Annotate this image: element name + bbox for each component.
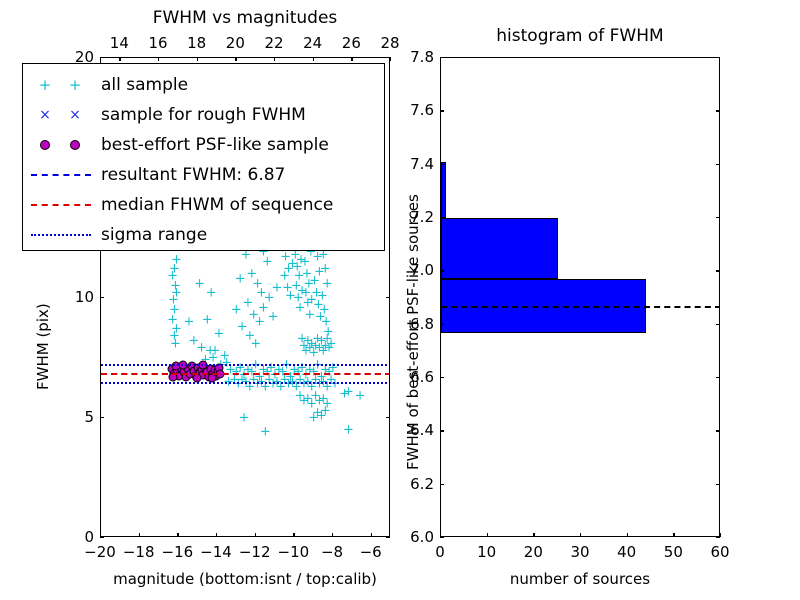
all-sample-point: + bbox=[246, 366, 257, 379]
all-sample-point: + bbox=[200, 354, 211, 367]
plus-icon: + bbox=[39, 76, 52, 94]
all-sample-point: + bbox=[283, 263, 294, 276]
x-tick-top bbox=[313, 57, 314, 61]
psf-sample-point bbox=[211, 366, 220, 375]
right-xaxis-label: number of sources bbox=[440, 570, 720, 588]
all-sample-point: + bbox=[250, 337, 261, 350]
all-sample-point: + bbox=[270, 368, 281, 381]
legend-item: sigma range bbox=[23, 220, 384, 250]
all-sample-point: + bbox=[279, 373, 290, 386]
all-sample-point: + bbox=[264, 373, 275, 386]
all-sample-point: + bbox=[235, 272, 246, 285]
psf-sample-point bbox=[215, 369, 224, 378]
all-sample-point: + bbox=[252, 378, 263, 391]
all-sample-point: + bbox=[310, 373, 321, 386]
y-tick-left bbox=[440, 110, 444, 111]
cross-icon: × bbox=[69, 107, 81, 123]
legend-item: ××sample for rough FWHM bbox=[23, 100, 384, 130]
all-sample-point: + bbox=[252, 277, 263, 290]
rough-sample-point: × bbox=[180, 365, 189, 376]
psf-sample-point bbox=[185, 369, 194, 378]
legend-item-label: median FHWM of sequence bbox=[101, 195, 333, 215]
all-sample-point: + bbox=[205, 344, 216, 357]
x-tick-bottom bbox=[580, 533, 581, 537]
y-tick-left bbox=[100, 537, 104, 538]
y-tick-left bbox=[440, 377, 444, 378]
all-sample-point: + bbox=[241, 376, 252, 389]
psf-sample-point bbox=[214, 363, 223, 372]
all-sample-point: + bbox=[309, 275, 320, 288]
all-sample-point: + bbox=[246, 268, 257, 281]
y-tick-left bbox=[440, 537, 444, 538]
psf-sample-point bbox=[205, 373, 214, 382]
all-sample-point: + bbox=[287, 258, 298, 271]
psf-sample-point bbox=[167, 364, 176, 373]
x-tick-top bbox=[197, 57, 198, 61]
all-sample-point: + bbox=[273, 364, 284, 377]
all-sample-point: + bbox=[317, 289, 328, 302]
all-sample-point: + bbox=[279, 270, 290, 283]
left-yaxis-label: FWHM (pix) bbox=[34, 303, 52, 390]
rough-sample-point: × bbox=[214, 366, 223, 377]
psf-sample-point bbox=[170, 369, 179, 378]
psf-sample-point bbox=[195, 368, 204, 377]
all-sample-point: + bbox=[285, 289, 296, 302]
all-sample-point: + bbox=[202, 313, 213, 326]
all-sample-point: + bbox=[296, 253, 307, 266]
all-sample-point: + bbox=[302, 296, 313, 309]
all-sample-point: + bbox=[275, 380, 286, 393]
rough-sample-point: × bbox=[207, 365, 216, 376]
y-ticklabel: 10 bbox=[54, 288, 94, 306]
all-sample-point: + bbox=[248, 373, 259, 386]
all-sample-point: + bbox=[231, 366, 242, 379]
y-tick-right bbox=[716, 430, 720, 431]
all-sample-point: + bbox=[318, 376, 329, 389]
all-sample-point: + bbox=[322, 397, 333, 410]
x-ticklabel: 60 bbox=[710, 543, 729, 561]
legend-key: ×× bbox=[23, 100, 101, 130]
all-sample-point: + bbox=[312, 332, 323, 345]
all-sample-point: + bbox=[306, 380, 317, 393]
psf-sample-point bbox=[175, 372, 184, 381]
x-ticklabel: 30 bbox=[570, 543, 589, 561]
all-sample-point: + bbox=[225, 364, 236, 377]
x-ticklabel-top: 14 bbox=[110, 34, 129, 52]
legend-item-label: sigma range bbox=[101, 225, 207, 245]
y-ticklabel: 5 bbox=[54, 408, 94, 426]
all-sample-point: + bbox=[171, 323, 182, 336]
all-sample-point: + bbox=[320, 364, 331, 377]
all-sample-point: + bbox=[329, 378, 340, 391]
all-sample-point: + bbox=[283, 378, 294, 391]
right-yaxis-label: FWHM of best-effort PSF-like sources bbox=[404, 194, 422, 470]
all-sample-point: + bbox=[168, 294, 179, 307]
all-sample-point: + bbox=[237, 320, 248, 333]
all-sample-point: + bbox=[312, 359, 323, 372]
x-tick-bottom bbox=[371, 533, 372, 537]
all-sample-point: + bbox=[316, 371, 327, 384]
legend-item-label: best-effort PSF-like sample bbox=[101, 135, 329, 155]
y-ticklabel: 6.0 bbox=[388, 528, 434, 546]
psf-sample-point bbox=[191, 372, 200, 381]
all-sample-point: + bbox=[244, 380, 255, 393]
all-sample-point: + bbox=[295, 390, 306, 403]
y-tick-right bbox=[716, 537, 720, 538]
all-sample-point: + bbox=[242, 296, 253, 309]
all-sample-point: + bbox=[326, 373, 337, 386]
dashed-line-icon bbox=[31, 174, 91, 176]
all-sample-point: + bbox=[254, 316, 265, 329]
all-sample-point: + bbox=[170, 337, 181, 350]
all-sample-point: + bbox=[311, 287, 322, 300]
legend-item: resultant FWHM: 6.87 bbox=[23, 160, 384, 190]
x-ticklabel-top: 24 bbox=[303, 34, 322, 52]
all-sample-point: + bbox=[289, 364, 300, 377]
legend-item-label: resultant FWHM: 6.87 bbox=[101, 165, 285, 185]
all-sample-point: + bbox=[322, 277, 333, 290]
y-tick-right bbox=[716, 217, 720, 218]
all-sample-point: + bbox=[321, 316, 332, 329]
all-sample-point: + bbox=[314, 395, 325, 408]
left-xaxis-label: magnitude (bottom:isnt / top:calib) bbox=[100, 570, 390, 588]
y-ticklabel: 7.6 bbox=[388, 101, 434, 119]
all-sample-point: + bbox=[324, 342, 335, 355]
all-sample-point: + bbox=[196, 342, 207, 355]
legend-item-label: sample for rough FWHM bbox=[101, 105, 306, 125]
psf-sample-point bbox=[172, 362, 181, 371]
legend-item-label: all sample bbox=[101, 75, 188, 95]
psf-sample-point bbox=[189, 367, 198, 376]
all-sample-point: + bbox=[355, 390, 366, 403]
all-sample-point: + bbox=[248, 308, 259, 321]
x-ticklabel-bottom: −14 bbox=[200, 543, 232, 561]
legend-box: ++all sample××sample for rough FWHMbest-… bbox=[22, 63, 385, 251]
all-sample-point: + bbox=[318, 344, 329, 357]
all-sample-point: + bbox=[312, 251, 323, 264]
all-sample-point: + bbox=[304, 308, 315, 321]
y-tick-left bbox=[440, 430, 444, 431]
histogram-bar bbox=[441, 218, 558, 279]
x-ticklabel: 20 bbox=[524, 543, 543, 561]
x-ticklabel-bottom: −12 bbox=[239, 543, 271, 561]
all-sample-point: + bbox=[256, 287, 267, 300]
all-sample-point: + bbox=[231, 304, 242, 317]
x-tick-bottom bbox=[533, 533, 534, 537]
figure-canvas: FWHM vs magnitudes +++++++++++++++++++++… bbox=[0, 0, 800, 600]
all-sample-point: + bbox=[167, 313, 178, 326]
all-sample-point: + bbox=[169, 263, 180, 276]
all-sample-point: + bbox=[319, 304, 330, 317]
all-sample-point: + bbox=[303, 277, 314, 290]
all-sample-point: + bbox=[169, 304, 180, 317]
psf-sample-point bbox=[197, 366, 206, 375]
all-sample-point: + bbox=[208, 352, 219, 365]
all-sample-point: + bbox=[343, 385, 354, 398]
y-tick-left bbox=[440, 57, 444, 58]
x-ticklabel-top: 26 bbox=[342, 34, 361, 52]
rough-sample-point: × bbox=[195, 365, 204, 376]
legend-item: ++all sample bbox=[23, 70, 384, 100]
all-sample-point: + bbox=[258, 364, 269, 377]
all-sample-point: + bbox=[295, 301, 306, 314]
all-sample-point: + bbox=[188, 335, 199, 348]
all-sample-point: + bbox=[315, 311, 326, 324]
x-tick-top bbox=[235, 57, 236, 61]
all-sample-point: + bbox=[297, 332, 308, 345]
x-tick-bottom bbox=[332, 533, 333, 537]
all-sample-point: + bbox=[291, 280, 302, 293]
plus-icon: + bbox=[69, 76, 82, 94]
psf-sample-point bbox=[173, 366, 182, 375]
all-sample-point: + bbox=[304, 364, 315, 377]
all-sample-point: + bbox=[326, 337, 337, 350]
legend-key bbox=[23, 220, 101, 250]
psf-sample-point bbox=[203, 368, 212, 377]
all-sample-point: + bbox=[192, 366, 203, 379]
legend-key bbox=[23, 190, 101, 220]
all-sample-point: + bbox=[186, 366, 197, 379]
all-sample-point: + bbox=[264, 292, 275, 305]
legend-key bbox=[23, 160, 101, 190]
x-tick-top bbox=[158, 57, 159, 61]
y-tick-right bbox=[386, 297, 390, 298]
psf-sample-point bbox=[192, 374, 201, 383]
all-sample-point: + bbox=[206, 287, 217, 300]
histogram-bar bbox=[441, 279, 646, 332]
x-tick-top bbox=[119, 57, 120, 61]
all-sample-point: + bbox=[308, 347, 319, 360]
reference-line-resultant-fwhm bbox=[101, 373, 389, 375]
psf-sample-point bbox=[179, 361, 188, 370]
all-sample-point: + bbox=[260, 426, 271, 439]
all-sample-point: + bbox=[262, 366, 273, 379]
all-sample-point: + bbox=[256, 376, 267, 389]
all-sample-point: + bbox=[268, 311, 279, 324]
y-tick-left bbox=[440, 324, 444, 325]
all-sample-point: + bbox=[260, 380, 271, 393]
cross-icon: × bbox=[39, 107, 51, 123]
all-sample-point: + bbox=[287, 376, 298, 389]
y-tick-right bbox=[386, 417, 390, 418]
all-sample-point: + bbox=[339, 388, 350, 401]
y-tick-right bbox=[716, 324, 720, 325]
all-sample-point: + bbox=[302, 335, 313, 348]
all-sample-point: + bbox=[310, 340, 321, 353]
all-sample-point: + bbox=[244, 330, 255, 343]
y-ticklabel: 0 bbox=[54, 528, 94, 546]
all-sample-point: + bbox=[254, 371, 265, 384]
rough-sample-point: × bbox=[187, 366, 196, 377]
all-sample-point: + bbox=[294, 270, 305, 283]
all-sample-point: + bbox=[302, 392, 313, 405]
all-sample-point: + bbox=[219, 349, 230, 362]
all-sample-point: + bbox=[322, 380, 333, 393]
all-sample-point: + bbox=[181, 364, 192, 377]
all-sample-point: + bbox=[171, 253, 182, 266]
all-sample-point: + bbox=[184, 316, 195, 329]
all-sample-point: + bbox=[313, 299, 324, 312]
histogram-layer bbox=[441, 58, 719, 536]
all-sample-point: + bbox=[306, 397, 317, 410]
histogram-median-line bbox=[441, 306, 719, 308]
x-tick-bottom bbox=[293, 533, 294, 537]
all-sample-point: + bbox=[223, 376, 234, 389]
legend-item: best-effort PSF-like sample bbox=[23, 130, 384, 160]
all-sample-point: + bbox=[322, 332, 333, 345]
psf-sample-point bbox=[180, 368, 189, 377]
x-ticklabel: 10 bbox=[477, 543, 496, 561]
psf-sample-point bbox=[177, 363, 186, 372]
all-sample-point: + bbox=[308, 366, 319, 379]
all-sample-point: + bbox=[314, 378, 325, 391]
x-ticklabel-top: 22 bbox=[264, 34, 283, 52]
y-tick-left bbox=[440, 217, 444, 218]
reference-line-sigma-lower bbox=[101, 382, 389, 384]
all-sample-point: + bbox=[304, 342, 315, 355]
all-sample-point: + bbox=[271, 282, 282, 295]
x-ticklabel-top: 18 bbox=[187, 34, 206, 52]
all-sample-point: + bbox=[266, 361, 277, 374]
psf-sample-point bbox=[198, 361, 207, 370]
all-sample-point: + bbox=[316, 335, 327, 348]
all-sample-point: + bbox=[300, 256, 311, 269]
x-ticklabel-bottom: −18 bbox=[123, 543, 155, 561]
psf-sample-point bbox=[212, 372, 221, 381]
x-tick-bottom bbox=[673, 533, 674, 537]
all-sample-point: + bbox=[280, 251, 291, 264]
y-ticklabel: 7.4 bbox=[388, 155, 434, 173]
all-sample-point: + bbox=[221, 356, 232, 369]
all-sample-point: + bbox=[239, 412, 250, 425]
x-tick-bottom bbox=[216, 533, 217, 537]
reference-line-median-fhwm-of-sequence bbox=[101, 373, 389, 375]
all-sample-point: + bbox=[300, 287, 311, 300]
all-sample-point: + bbox=[229, 373, 240, 386]
dashed-line-icon bbox=[31, 204, 91, 206]
psf-sample-point bbox=[193, 363, 202, 372]
y-tick-right bbox=[716, 377, 720, 378]
y-tick-left bbox=[100, 297, 104, 298]
psf-sample-point bbox=[201, 363, 210, 372]
y-ticklabel: 7.8 bbox=[388, 48, 434, 66]
all-sample-point: + bbox=[293, 292, 304, 305]
psf-sample-point bbox=[208, 374, 217, 383]
all-sample-point: + bbox=[299, 378, 310, 391]
all-sample-point: + bbox=[300, 368, 311, 381]
psf-sample-point bbox=[213, 367, 222, 376]
all-sample-point: + bbox=[297, 361, 308, 374]
all-sample-point: + bbox=[213, 328, 224, 341]
all-sample-point: + bbox=[323, 325, 334, 338]
all-sample-point: + bbox=[250, 359, 261, 372]
all-sample-point: + bbox=[235, 361, 246, 374]
all-sample-point: + bbox=[299, 395, 310, 408]
y-tick-right bbox=[716, 270, 720, 271]
all-sample-point: + bbox=[301, 268, 312, 281]
all-sample-point: + bbox=[308, 412, 319, 425]
psf-sample-point bbox=[199, 370, 208, 379]
x-tick-bottom bbox=[177, 533, 178, 537]
all-sample-point: + bbox=[293, 366, 304, 379]
all-sample-point: + bbox=[167, 270, 178, 283]
legend-item: median FHWM of sequence bbox=[23, 190, 384, 220]
all-sample-point: + bbox=[281, 359, 292, 372]
psf-sample-point bbox=[168, 373, 177, 382]
all-sample-point: + bbox=[170, 280, 181, 293]
psf-sample-point bbox=[187, 362, 196, 371]
all-sample-point: + bbox=[271, 376, 282, 389]
x-tick-bottom bbox=[627, 533, 628, 537]
psf-sample-point bbox=[182, 373, 191, 382]
all-sample-point: + bbox=[291, 380, 302, 393]
all-sample-point: + bbox=[262, 256, 273, 269]
legend-key: ++ bbox=[23, 70, 101, 100]
y-tick-left bbox=[100, 57, 104, 58]
all-sample-point: + bbox=[285, 371, 296, 384]
all-sample-point: + bbox=[320, 404, 331, 417]
psf-sample-point bbox=[184, 364, 193, 373]
all-sample-point: + bbox=[210, 344, 221, 357]
all-sample-point: + bbox=[324, 366, 335, 379]
all-sample-point: + bbox=[292, 260, 303, 273]
x-tick-bottom bbox=[487, 533, 488, 537]
x-ticklabel: 50 bbox=[664, 543, 683, 561]
x-ticklabel: 40 bbox=[617, 543, 636, 561]
all-sample-point: + bbox=[302, 376, 313, 389]
histogram-bar bbox=[441, 162, 446, 218]
all-sample-point: + bbox=[297, 284, 308, 297]
x-tick-bottom bbox=[139, 533, 140, 537]
filled-circle-icon bbox=[40, 140, 50, 150]
all-sample-point: + bbox=[277, 366, 288, 379]
all-sample-point: + bbox=[316, 409, 327, 422]
left-plot-title: FWHM vs magnitudes bbox=[100, 8, 390, 28]
dashdot-line-icon bbox=[31, 234, 91, 236]
x-tick-bottom bbox=[255, 533, 256, 537]
all-sample-point: + bbox=[233, 378, 244, 391]
y-tick-right bbox=[716, 110, 720, 111]
x-ticklabel-bottom: −8 bbox=[321, 543, 343, 561]
x-ticklabel-bottom: −16 bbox=[162, 543, 194, 561]
filled-circle-icon bbox=[70, 140, 80, 150]
x-ticklabel: 0 bbox=[435, 543, 445, 561]
all-sample-point: + bbox=[268, 378, 279, 391]
all-sample-point: + bbox=[282, 282, 293, 295]
legend-key bbox=[23, 130, 101, 160]
all-sample-point: + bbox=[320, 263, 331, 276]
all-sample-point: + bbox=[237, 373, 248, 386]
x-tick-top bbox=[351, 57, 352, 61]
all-sample-point: + bbox=[242, 364, 253, 377]
all-sample-point: + bbox=[300, 344, 311, 357]
all-sample-point: + bbox=[171, 287, 182, 300]
all-sample-point: + bbox=[314, 265, 325, 278]
all-sample-point: + bbox=[194, 277, 205, 290]
all-sample-point: + bbox=[318, 392, 329, 405]
y-tick-left bbox=[440, 484, 444, 485]
y-ticklabel: 6.2 bbox=[388, 475, 434, 493]
rough-sample-point: × bbox=[201, 367, 210, 378]
x-ticklabel-bottom: −10 bbox=[278, 543, 310, 561]
y-tick-left bbox=[440, 270, 444, 271]
y-tick-left bbox=[440, 164, 444, 165]
y-tick-right bbox=[716, 164, 720, 165]
all-sample-point: + bbox=[299, 340, 310, 353]
x-tick-top bbox=[274, 57, 275, 61]
all-sample-point: + bbox=[306, 337, 317, 350]
x-ticklabel-top: 16 bbox=[148, 34, 167, 52]
